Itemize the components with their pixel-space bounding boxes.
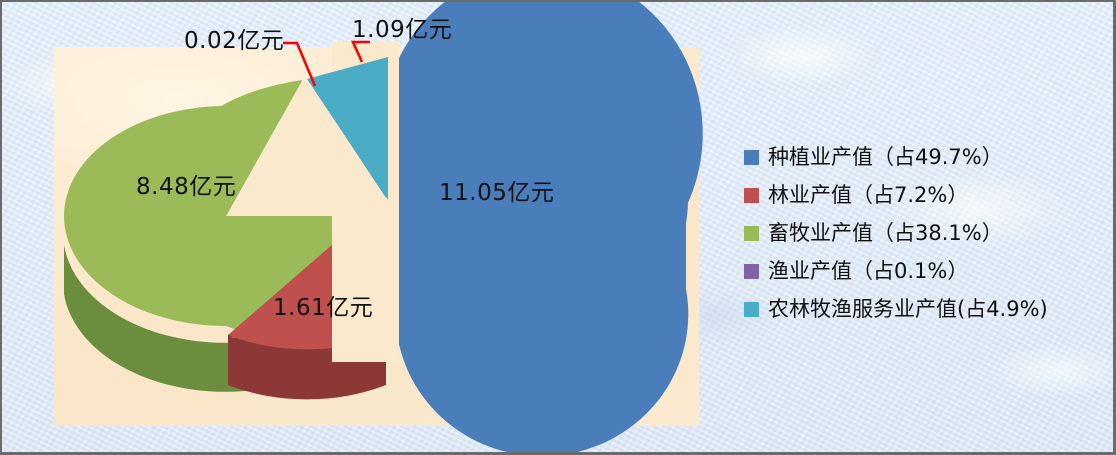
- legend-item-fishery[interactable]: 渔业产值（占0.1%）: [744, 252, 1114, 290]
- legend-swatch-fishery: [744, 264, 759, 279]
- services-callout-label: 1.09亿元: [352, 10, 452, 44]
- legend: 种植业产值（占49.7%） 林业产值（占7.2%） 畜牧业产值（占38.1%） …: [744, 138, 1114, 328]
- livestock-slice-label: 8.48亿元: [136, 174, 236, 200]
- legend-item-planting[interactable]: 种植业产值（占49.7%）: [744, 138, 1114, 176]
- legend-item-services[interactable]: 农林牧渔服务业产值(占4.9%): [744, 290, 1114, 328]
- forestry-slice-label: 1.61亿元: [273, 295, 373, 321]
- legend-label-livestock: 畜牧业产值（占38.1%）: [768, 223, 1003, 244]
- legend-swatch-planting: [744, 150, 759, 165]
- legend-label-forestry: 林业产值（占7.2%）: [768, 185, 968, 206]
- legend-swatch-forestry: [744, 188, 759, 203]
- legend-label-services: 农林牧渔服务业产值(占4.9%): [768, 299, 1048, 320]
- legend-swatch-livestock: [744, 226, 759, 241]
- legend-swatch-services: [744, 302, 759, 317]
- legend-label-fishery: 渔业产值（占0.1%）: [768, 261, 968, 282]
- legend-item-livestock[interactable]: 畜牧业产值（占38.1%）: [744, 214, 1114, 252]
- legend-label-planting: 种植业产值（占49.7%）: [768, 147, 1003, 168]
- planting-slice-label: 11.05亿元: [439, 180, 554, 206]
- legend-item-forestry[interactable]: 林业产值（占7.2%）: [744, 176, 1114, 214]
- fishery-callout-label: 0.02亿元: [184, 21, 284, 55]
- chart-page: 11.05亿元 8.48亿元 1.61亿元 0.02亿元 1.09亿元 种植业产…: [0, 0, 1116, 455]
